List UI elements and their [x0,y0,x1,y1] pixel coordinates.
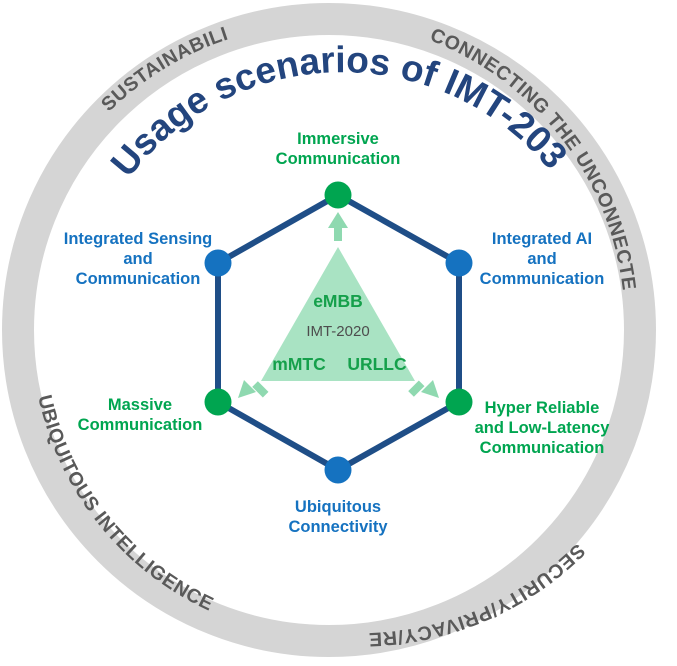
imt-2030-usage-scenarios-figure: SUSTAINABILITY CONNECTING THE UNCONNECTE… [0,0,677,666]
svg-text:Communication: Communication [76,270,201,288]
hexagon-node-integrated-ai-and-communication[interactable] [446,250,473,277]
arrow-down-right-icon [408,380,439,398]
svg-text:Integrated Sensing: Integrated Sensing [64,230,213,248]
svg-text:Hyper Reliable: Hyper Reliable [485,399,600,417]
svg-text:and Low-Latency: and Low-Latency [475,419,611,437]
svg-text:Massive: Massive [108,396,172,414]
triangle-label-embb: eMBB [313,291,363,311]
hexagon-node-integrated-sensing-and-communication[interactable] [205,250,232,277]
node-label-ubiquitous-connectivity: Ubiquitous Connectivity [288,498,388,536]
svg-text:Immersive: Immersive [297,130,379,148]
svg-text:Ubiquitous: Ubiquitous [295,498,381,516]
hexagon-node-massive-communication[interactable] [205,389,232,416]
hexagon-node-immersive-communication[interactable] [325,182,352,209]
triangle-label-imt-2020: IMT-2020 [306,323,369,340]
svg-text:Communication: Communication [480,439,605,457]
node-label-integrated-ai-and-communication: Integrated AI and Communication [480,230,605,288]
hexagon-node-ubiquitous-connectivity[interactable] [325,457,352,484]
svg-text:Connectivity: Connectivity [288,518,388,536]
hexagon-node-hyper-reliable-and-low-latency-communication[interactable] [446,389,473,416]
arrow-up-icon [328,212,348,241]
node-label-hyper-reliable-and-low-latency-communication: Hyper Reliable and Low-Latency Communica… [475,399,611,457]
node-label-massive-communication: Massive Communication [78,396,203,434]
triangle-label-mmtc: mMTC [272,354,326,374]
svg-text:Integrated AI: Integrated AI [492,230,592,248]
triangle-label-urllc: URLLC [347,354,407,374]
svg-text:and: and [123,250,152,268]
svg-text:Communication: Communication [480,270,605,288]
node-label-immersive-communication: Immersive Communication [276,130,401,168]
svg-text:and: and [527,250,556,268]
node-label-integrated-sensing-and-communication: Integrated Sensing and Communication [64,230,213,288]
arrow-down-left-icon [238,380,268,398]
svg-text:Communication: Communication [78,416,203,434]
svg-text:Communication: Communication [276,150,401,168]
imt-2020-triangle: eMBB IMT-2020 mMTC URLLC [261,247,415,381]
